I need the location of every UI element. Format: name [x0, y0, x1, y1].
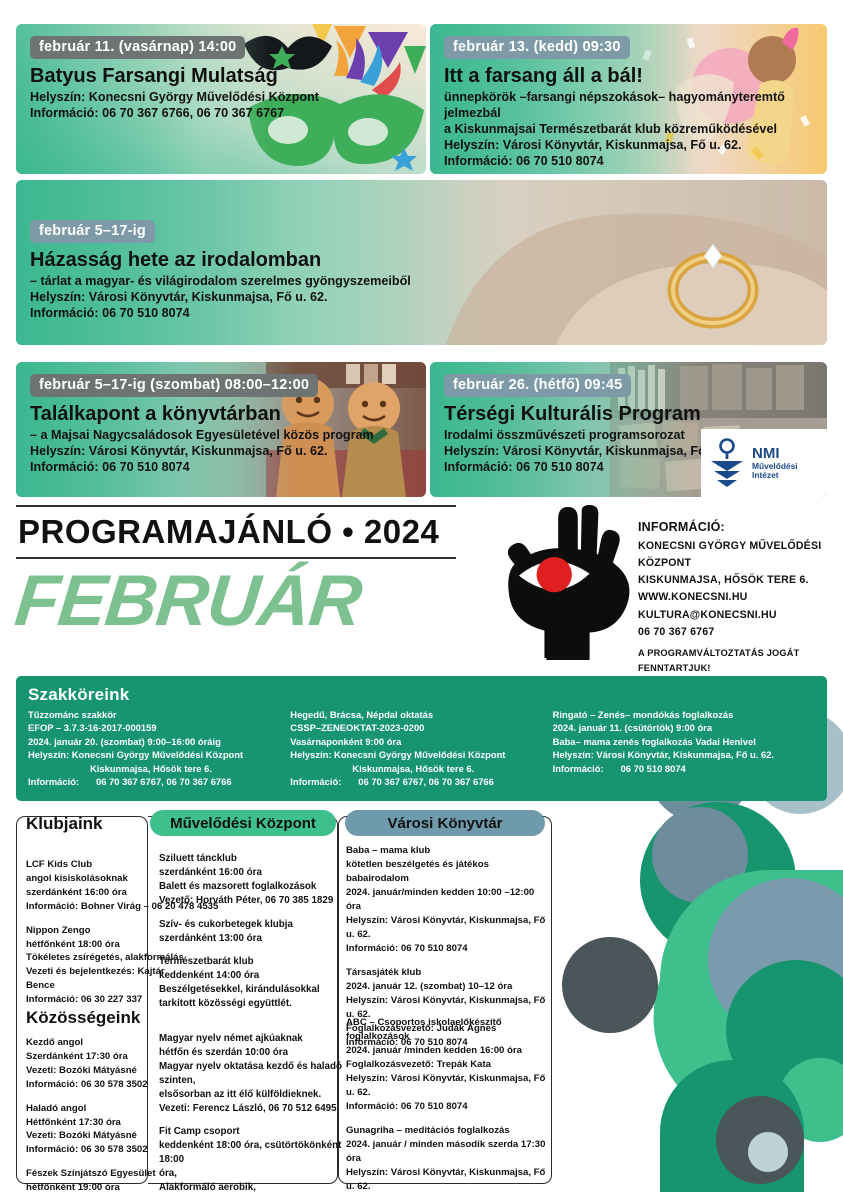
muvelodesi-content-bottom: Magyar nyelv német ajkúaknak hétfőn és s… [159, 1032, 355, 1192]
muvelodesi-content-top: Sziluett táncklub szerdánként 16:00 óra … [159, 852, 349, 1021]
program-name: Magyar nyelv német ajkúaknak [159, 1032, 355, 1046]
program-name: Társasjáték klub [346, 966, 550, 980]
program-desc-1: Magyar nyelv oktatása kezdő és haladó sz… [159, 1060, 355, 1088]
event-date-pill: február 5–17-ig (szombat) 08:00–12:00 [30, 374, 318, 397]
nmi-name: NMI [752, 446, 798, 463]
program-contact: Információ: 06 70 510 8074 [346, 1100, 550, 1114]
event-venue: Helyszín: Konecsni György Művelődési Köz… [30, 89, 412, 105]
page-title: PROGRAMAJÁNLÓ • 2024 [16, 507, 486, 557]
szakkor-info-label: Információ: [290, 775, 358, 788]
program-leader: Vezető: Horváth Péter, 06 70 385 1829 [159, 894, 349, 908]
heading-varosi-konyvtar: Városi Könyvtár [345, 810, 545, 836]
event-venue: Helyszín: Városi Könyvtár, Kiskunmajsa, … [444, 137, 813, 153]
program-name: Gunagriha – meditációs foglalkozás [346, 1124, 550, 1138]
konyvtar-content-bottom: ABC – Csoportos iskolaelőkészítő foglalk… [346, 1016, 550, 1192]
szakkor-venue-2: Kiskunmajsa, Hősök tere 6. [290, 762, 544, 775]
program-name: Szív- és cukorbetegek klubja [159, 918, 349, 932]
szakkor-schedule: Vasárnaponként 9:00 óra [290, 735, 544, 748]
szakkor-column-2: Hegedű, Brácsa, Népdal oktatás CSSP–ZENE… [290, 708, 552, 789]
program-name: Fit Camp csoport [159, 1125, 355, 1139]
event-title: Találkapont a könyvtárban [30, 404, 412, 425]
heading-kozossegeink: Közösségeink [26, 1008, 140, 1028]
event-subtitle: – a Majsai Nagycsaládosok Egyesületével … [30, 427, 412, 443]
program-schedule: 2024. január 12. (szombat) 10–12 óra [346, 980, 550, 994]
szakkor-info-value: 06 70 367 6767, 06 70 367 6766 [96, 775, 232, 788]
szakkoreink-heading: Szakköreink [28, 685, 815, 705]
program-name: Természetbarát klub [159, 955, 349, 969]
event-subtitle: – tárlat a magyar- és világirodalom szer… [30, 273, 813, 289]
info-website[interactable]: WWW.KONECSNI.HU [638, 589, 838, 606]
community-name: Fészek Színjátszó Egyesület [26, 1167, 174, 1181]
nmi-logo-badge: NMI Művelődési Intézet [701, 429, 827, 497]
szakkor-info-value: 06 70 367 6767, 06 70 367 6766 [358, 775, 494, 788]
nmi-emblem-icon [707, 437, 747, 489]
community-schedule: Hétfőnként 17:30 óra [26, 1116, 174, 1130]
event-date-pill: február 11. (vasárnap) 14:00 [30, 36, 245, 59]
program-contact: Információ: 06 70 510 8074 [346, 942, 550, 956]
program-desc-1: Beszélgetésekkel, kirándulásokkal [159, 983, 349, 997]
event-venue: Helyszín: Városi Könyvtár, Kiskunmajsa, … [30, 289, 813, 305]
szakkor-column-1: Tűzzománc szakkör EFOP – 3.7.3-16-2017-0… [28, 708, 290, 789]
program-item: Természetbarát klub keddenként 14:00 óra… [159, 955, 349, 1011]
event-date-pill: február 13. (kedd) 09:30 [444, 36, 630, 59]
event-contact: Információ: 06 70 510 8074 [30, 305, 813, 321]
szakkor-schedule: 2024. január 20. (szombat) 9:00–16:00 ór… [28, 735, 282, 748]
event-title: Itt a farsang áll a bál! [444, 66, 813, 87]
event-contact: Információ: 06 70 510 8074 [444, 153, 813, 169]
program-item: Fit Camp csoport keddenként 18:00 óra, c… [159, 1125, 355, 1192]
event-card-tersegi[interactable]: február 26. (hétfő) 09:45 Térségi Kultur… [430, 362, 827, 497]
program-schedule: 2024. január / minden második szerda 17:… [346, 1138, 550, 1166]
community-leader: Vezeti: Bozóki Mátyásné [26, 1129, 174, 1143]
program-name: ABC – Csoportos iskolaelőkészítő foglalk… [346, 1016, 550, 1044]
szakkor-venue: Helyszín: Konecsni György Művelődési Köz… [28, 748, 282, 761]
community-schedule: Szerdánként 17:30 óra [26, 1050, 174, 1064]
event-contact: Információ: 06 70 510 8074 [30, 459, 412, 475]
szakkor-code: CSSP–ZENEOKTAT-2023-0200 [290, 721, 544, 734]
info-phone: 06 70 367 6767 [638, 624, 838, 641]
szakkor-title: Ringató – Zenés– mondókás foglalkozás [553, 708, 807, 721]
event-card-hazassag[interactable]: február 5–17-ig Házasság hete az irodalo… [16, 180, 827, 345]
program-schedule: keddenként 14:00 óra [159, 969, 349, 983]
event-card-talalkapont[interactable]: február 5–17-ig (szombat) 08:00–12:00 Ta… [16, 362, 426, 497]
heading-muvelodesi-kozpont: Művelődési Központ [150, 810, 336, 836]
program-schedule-1: keddenként 18:00 óra, csütörtökönként 18… [159, 1139, 355, 1167]
community-contact: Információ: 06 30 578 3502 [26, 1078, 174, 1092]
program-schedule: szerdánként 16:00 óra [159, 866, 349, 880]
program-item: Magyar nyelv német ajkúaknak hétfőn és s… [159, 1032, 355, 1115]
program-schedule: 2024. január/minden kedden 10:00 –12:00 … [346, 886, 550, 914]
program-leader: Foglalkozásvezető: Trepák Kata [346, 1058, 550, 1072]
szakkor-column-3: Ringató – Zenés– mondókás foglalkozás 20… [553, 708, 815, 789]
event-contact: Információ: 06 70 367 6766, 06 70 367 67… [30, 105, 412, 121]
szakkor-code: EFOP – 3.7.3-16-2017-000159 [28, 721, 282, 734]
library-program-item: ABC – Csoportos iskolaelőkészítő foglalk… [346, 1016, 550, 1114]
info-heading: INFORMÁCIÓ: [638, 520, 838, 534]
szakkor-info: Információ: 06 70 367 6767, 06 70 367 67… [290, 775, 544, 788]
program-schedule: 2024. január /minden kedden 16:00 óra [346, 1044, 550, 1058]
event-subtitle-1: ünnepkörök –farsangi népszokások– hagyom… [444, 89, 813, 121]
hand-with-eye-logo [492, 505, 642, 660]
szakkor-info: Információ: 06 70 510 8074 [553, 762, 807, 775]
szakkor-schedule: 2024. január 11. (csütörtök) 9:00 óra [553, 721, 807, 734]
community-item: Fészek Színjátszó Egyesület hétfőnként 1… [26, 1167, 174, 1192]
info-email[interactable]: KULTURA@KONECSNI.HU [638, 607, 838, 624]
poster-root: február 11. (vasárnap) 14:00 Batyus Fars… [0, 0, 843, 1192]
nmi-line2: Intézet [752, 471, 798, 480]
szakkoreink-band: Szakköreink Tűzzománc szakkör EFOP – 3.7… [16, 676, 827, 801]
community-schedule: hétfőnként 19:00 óra [26, 1181, 174, 1192]
info-address: KISKUNMAJSA, HŐSÖK TERE 6. [638, 572, 838, 589]
event-title: Házasság hete az irodalomban [30, 250, 813, 271]
title-block: PROGRAMAJÁNLÓ • 2024 FEBRUÁR [16, 505, 486, 637]
program-schedule-2: óra, [159, 1167, 355, 1181]
month-title: FEBRUÁR [12, 559, 490, 637]
program-schedule: hétfőn és szerdán 10:00 óra [159, 1046, 355, 1060]
program-desc-2: elsősorban az itt élő külföldieknek. [159, 1088, 355, 1102]
library-program-item: Baba – mama klub kötetlen beszélgetés és… [346, 844, 550, 956]
program-leader: Vezeti: Ferencz László, 06 70 512 6495 [159, 1102, 355, 1116]
szakkor-venue-2: Kiskunmajsa, Hősök tere 6. [28, 762, 282, 775]
community-name: Kezdő angol [26, 1036, 174, 1050]
szakkor-venue: Helyszín: Városi Könyvtár, Kiskunmajsa, … [553, 748, 807, 761]
event-subtitle-2: a Kiskunmajsai Természetbarát klub közre… [444, 121, 813, 137]
szakkor-desc: Baba– mama zenés foglalkozás Vadai Heniv… [553, 735, 807, 748]
program-desc: Balett és mazsorett foglalkozások [159, 880, 349, 894]
program-venue: Helyszín: Városi Könyvtár, Kiskunmajsa, … [346, 1166, 550, 1192]
event-date-pill: február 5–17-ig [30, 220, 155, 243]
event-title: Batyus Farsangi Mulatság [30, 66, 412, 87]
szakkor-info-label: Információ: [553, 762, 621, 775]
szakkor-title: Hegedű, Brácsa, Népdal oktatás [290, 708, 544, 721]
program-venue: Helyszín: Városi Könyvtár, Kiskunmajsa, … [346, 1072, 550, 1100]
heading-klubjaink: Klubjaink [26, 814, 103, 834]
program-venue: Helyszín: Városi Könyvtár, Kiskunmajsa, … [346, 914, 550, 942]
library-program-item: Gunagriha – meditációs foglalkozás 2024.… [346, 1124, 550, 1192]
eye-pupil [537, 557, 572, 592]
szakkor-info-value: 06 70 510 8074 [621, 762, 686, 775]
community-item: Kezdő angol Szerdánként 17:30 óra Vezeti… [26, 1036, 174, 1092]
kozossegeink-content: Kezdő angol Szerdánként 17:30 óra Vezeti… [26, 1036, 174, 1192]
community-contact: Információ: 06 30 578 3502 [26, 1143, 174, 1157]
program-item: Sziluett táncklub szerdánként 16:00 óra … [159, 852, 349, 908]
event-date-pill: február 26. (hétfő) 09:45 [444, 374, 631, 397]
event-card-farsang[interactable]: február 13. (kedd) 09:30 Itt a farsang á… [430, 24, 827, 174]
community-leader: Vezeti: Bozóki Mátyásné [26, 1064, 174, 1078]
program-desc-1: Alakformáló aerobik, [159, 1181, 355, 1192]
program-desc-2: tarkított közösségi együttlét. [159, 997, 349, 1011]
community-name: Haladó angol [26, 1102, 174, 1116]
program-name: Sziluett táncklub [159, 852, 349, 866]
szakkor-title: Tűzzománc szakkör [28, 708, 282, 721]
szakkor-info: Információ: 06 70 367 6767, 06 70 367 67… [28, 775, 282, 788]
community-item: Haladó angol Hétfőnként 17:30 óra Vezeti… [26, 1102, 174, 1158]
event-venue: Helyszín: Városi Könyvtár, Kiskunmajsa, … [30, 443, 412, 459]
program-item: Szív- és cukorbetegek klubja szerdánként… [159, 918, 349, 946]
event-card-batyus[interactable]: február 11. (vasárnap) 14:00 Batyus Fars… [16, 24, 426, 174]
info-org: KONECSNI GYÖRGY MŰVELŐDÉSI KÖZPONT [638, 538, 838, 572]
program-name: Baba – mama klub [346, 844, 550, 858]
info-block: INFORMÁCIÓ: KONECSNI GYÖRGY MŰVELŐDÉSI K… [638, 520, 838, 676]
szakkor-info-label: Információ: [28, 775, 96, 788]
program-schedule: szerdánként 13:00 óra [159, 932, 349, 946]
info-disclaimer: A PROGRAMVÁLTOZTATÁS JOGÁT FENNTARTJUK! [638, 646, 838, 676]
program-desc: kötetlen beszélgetés és játékos babairod… [346, 858, 550, 886]
szakkor-venue: Helyszín: Konecsni György Művelődési Köz… [290, 748, 544, 761]
event-title: Térségi Kulturális Program [444, 404, 813, 425]
